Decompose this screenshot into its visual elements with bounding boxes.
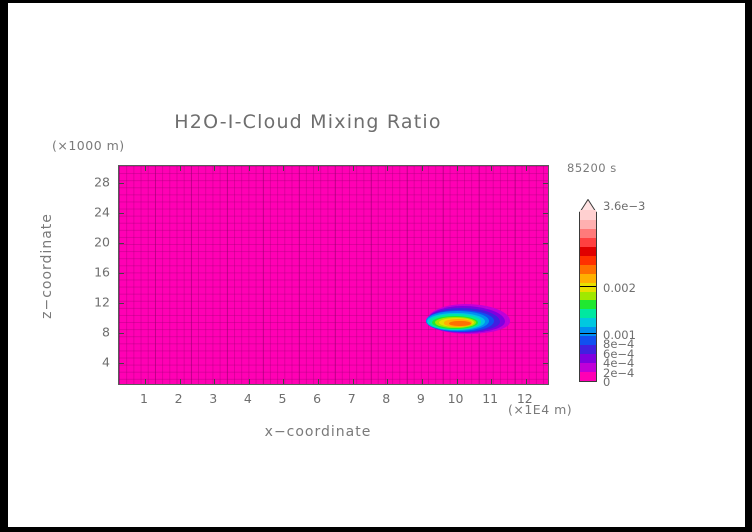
colorbar-band — [580, 309, 596, 319]
x-axis-label: x−coordinate — [188, 424, 448, 440]
y-tick — [543, 363, 548, 364]
colorbar — [579, 212, 597, 382]
y-tick — [119, 303, 124, 304]
x-tick — [457, 379, 458, 384]
colorbar-band — [580, 327, 596, 337]
y-tick — [119, 213, 124, 214]
x-tick — [283, 166, 284, 171]
colorbar-band — [580, 228, 596, 238]
colorbar-divider — [580, 286, 596, 287]
x-tick-label: 12 — [517, 391, 533, 406]
colorbar-band — [580, 237, 596, 247]
cloud-contour-layer — [449, 321, 471, 327]
x-tick — [353, 379, 354, 384]
colorbar-band — [580, 210, 596, 220]
y-tick — [543, 303, 548, 304]
colorbar-band — [580, 255, 596, 265]
y-tick — [119, 243, 124, 244]
x-tick — [422, 166, 423, 171]
y-tick — [543, 243, 548, 244]
y-tick-label: 4 — [84, 355, 110, 370]
x-tick — [387, 379, 388, 384]
x-tick — [145, 166, 146, 171]
x-tick-label: 9 — [417, 391, 425, 406]
x-tick-label: 3 — [209, 391, 217, 406]
colorbar-divider — [580, 333, 596, 334]
y-tick-label: 12 — [84, 295, 110, 310]
colorbar-band — [580, 273, 596, 283]
x-tick-label: 2 — [175, 391, 183, 406]
x-tick — [526, 166, 527, 171]
x-tick — [214, 166, 215, 171]
colorbar-band — [580, 291, 596, 301]
y-tick — [119, 333, 124, 334]
colorbar-band — [580, 371, 596, 381]
x-tick — [491, 379, 492, 384]
x-tick — [214, 379, 215, 384]
x-tick — [526, 379, 527, 384]
y-tick-label: 8 — [84, 325, 110, 340]
x-tick — [491, 166, 492, 171]
x-tick-label: 1 — [140, 391, 148, 406]
colorbar-band — [580, 219, 596, 229]
x-tick-label: 4 — [244, 391, 252, 406]
y-tick-label: 16 — [84, 264, 110, 279]
x-tick — [249, 166, 250, 171]
timestamp-label: 85200 s — [567, 161, 617, 175]
x-tick — [249, 379, 250, 384]
contour-plot-area — [118, 165, 549, 385]
x-tick — [145, 379, 146, 384]
y-axis-label: z−coordinate — [39, 201, 55, 331]
x-tick — [318, 379, 319, 384]
colorbar-band — [580, 264, 596, 274]
x-tick — [180, 166, 181, 171]
y-tick-label: 24 — [84, 204, 110, 219]
x-tick — [318, 166, 319, 171]
colorbar-band — [580, 363, 596, 373]
chart-title: H2O-I-Cloud Mixing Ratio — [8, 111, 608, 133]
y-tick-label: 28 — [84, 174, 110, 189]
colorbar-band — [580, 336, 596, 346]
plot-grid-major — [119, 166, 548, 384]
x-tick — [457, 166, 458, 171]
x-tick — [387, 166, 388, 171]
x-tick-label: 7 — [348, 391, 356, 406]
x-tick — [283, 379, 284, 384]
x-tick-label: 6 — [313, 391, 321, 406]
x-tick — [353, 166, 354, 171]
x-tick-label: 8 — [382, 391, 390, 406]
colorbar-band — [580, 354, 596, 364]
y-tick — [119, 183, 124, 184]
colorbar-band — [580, 282, 596, 292]
y-tick — [543, 333, 548, 334]
x-tick — [180, 379, 181, 384]
x-tick-label: 11 — [482, 391, 498, 406]
colorbar-band — [580, 300, 596, 310]
y-axis-unit: (×1000 m) — [52, 138, 125, 153]
colorbar-tick-label: 3.6e−3 — [603, 199, 645, 213]
x-tick — [422, 379, 423, 384]
figure-canvas: H2O-I-Cloud Mixing Ratio (×1000 m) (×1E4… — [8, 3, 745, 527]
colorbar-band — [580, 345, 596, 355]
colorbar-band — [580, 246, 596, 256]
y-tick — [119, 363, 124, 364]
colorbar-tick-label: 0.002 — [603, 281, 636, 295]
y-tick — [543, 183, 548, 184]
y-tick — [119, 273, 124, 274]
y-tick — [543, 273, 548, 274]
colorbar-tick-label: 0 — [603, 375, 610, 389]
y-tick-label: 20 — [84, 234, 110, 249]
y-tick — [543, 213, 548, 214]
x-tick-label: 5 — [278, 391, 286, 406]
colorbar-band — [580, 318, 596, 328]
x-tick-label: 10 — [448, 391, 464, 406]
